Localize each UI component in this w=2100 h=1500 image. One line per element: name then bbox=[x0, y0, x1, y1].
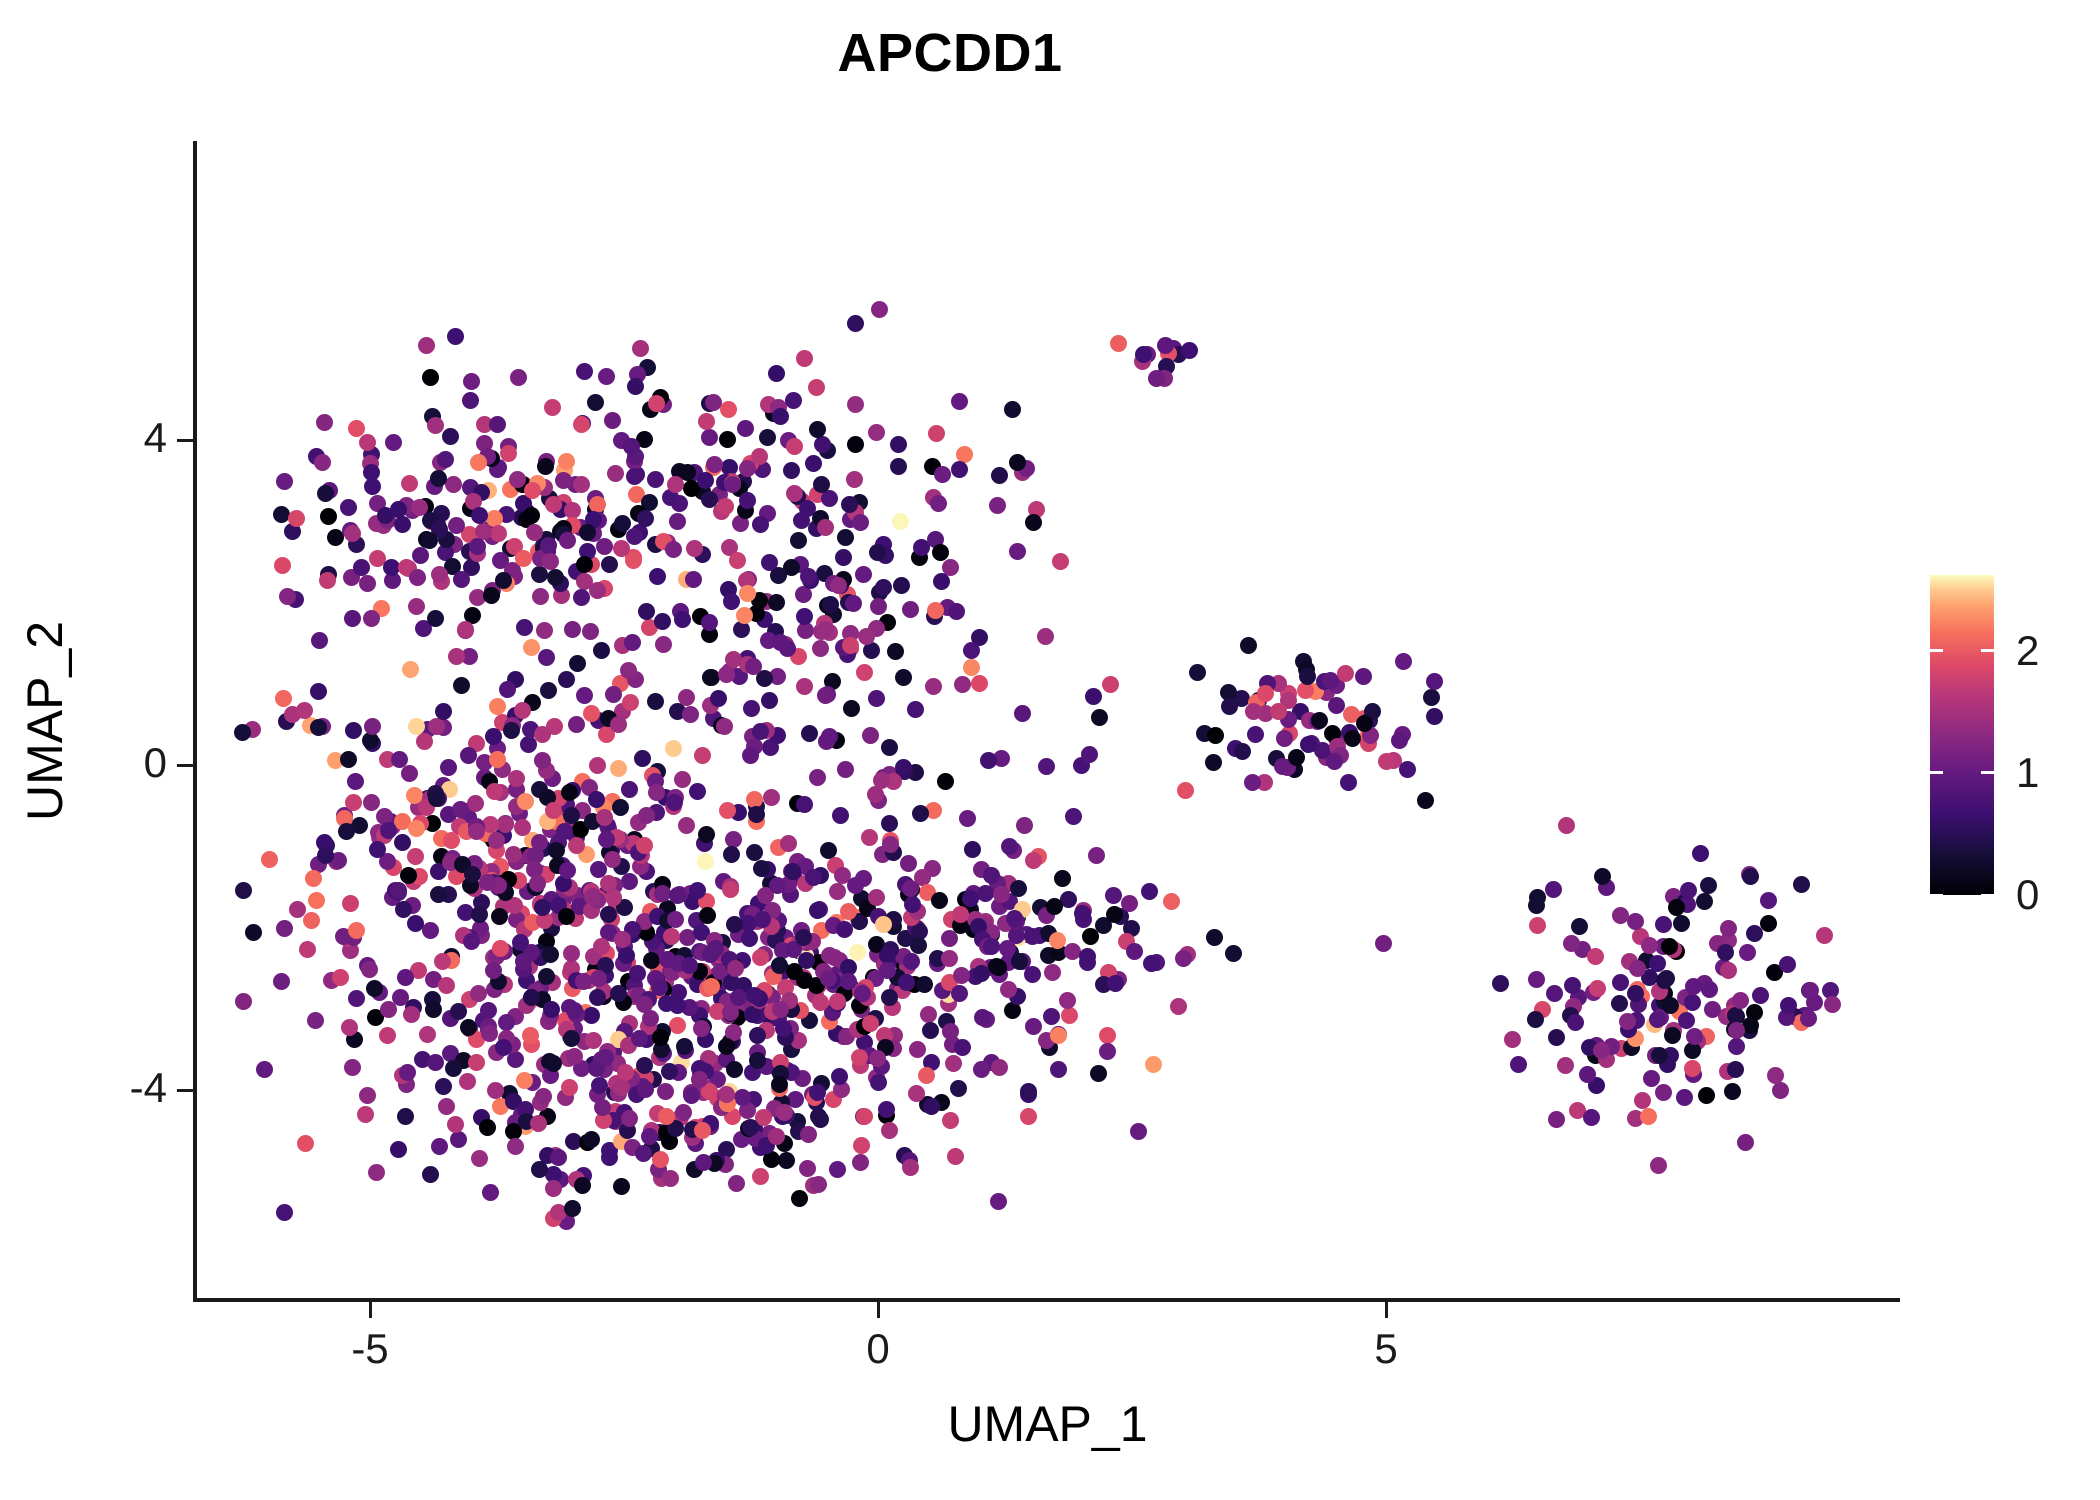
scatter-point bbox=[363, 610, 380, 627]
scatter-point bbox=[698, 413, 715, 430]
scatter-point bbox=[523, 639, 540, 656]
scatter-point bbox=[964, 841, 981, 858]
scatter-point bbox=[701, 429, 718, 446]
scatter-point bbox=[831, 1068, 848, 1085]
scatter-point bbox=[1529, 917, 1546, 934]
scatter-point bbox=[932, 544, 949, 561]
scatter-point bbox=[667, 911, 684, 928]
scatter-point bbox=[1426, 708, 1443, 725]
scatter-point bbox=[468, 1054, 485, 1071]
scatter-point bbox=[397, 969, 414, 986]
scatter-point bbox=[809, 769, 826, 786]
scatter-point bbox=[817, 687, 834, 704]
scatter-point bbox=[314, 454, 331, 471]
scatter-point bbox=[786, 485, 803, 502]
scatter-point bbox=[273, 973, 290, 990]
scatter-point bbox=[665, 740, 682, 757]
scatter-point bbox=[669, 513, 686, 530]
y-axis-label: UMAP_2 bbox=[0, 141, 90, 1300]
scatter-point bbox=[1081, 746, 1098, 763]
scatter-point bbox=[746, 844, 763, 861]
scatter-point bbox=[1684, 1042, 1701, 1059]
scatter-point bbox=[752, 516, 769, 533]
scatter-point bbox=[948, 603, 965, 620]
scatter-point bbox=[991, 467, 1008, 484]
scatter-point bbox=[973, 1061, 990, 1078]
scatter-point bbox=[1752, 987, 1769, 1004]
scatter-point bbox=[1528, 971, 1545, 988]
scatter-point bbox=[462, 392, 479, 409]
scatter-point bbox=[435, 1078, 452, 1095]
scatter-point bbox=[625, 552, 642, 569]
scatter-point bbox=[364, 718, 381, 735]
scatter-point bbox=[347, 773, 364, 790]
scatter-point bbox=[394, 516, 411, 533]
scatter-point bbox=[256, 1061, 273, 1078]
scatter-point bbox=[1163, 893, 1180, 910]
scatter-point bbox=[636, 996, 653, 1013]
scatter-point bbox=[1558, 817, 1575, 834]
scatter-point bbox=[835, 549, 852, 566]
scatter-point bbox=[514, 702, 531, 719]
scatter-point bbox=[1504, 1031, 1521, 1048]
scatter-point bbox=[587, 394, 604, 411]
scatter-point bbox=[621, 873, 638, 890]
scatter-point bbox=[631, 1030, 648, 1047]
scatter-point bbox=[775, 1020, 792, 1037]
scatter-point bbox=[613, 1178, 630, 1195]
scatter-point bbox=[453, 571, 470, 588]
scatter-point bbox=[861, 829, 878, 846]
scatter-point bbox=[460, 747, 477, 764]
scatter-point bbox=[870, 1074, 887, 1091]
scatter-point bbox=[817, 621, 834, 638]
scatter-point bbox=[898, 974, 915, 991]
scatter-point bbox=[809, 902, 826, 919]
scatter-point bbox=[662, 1170, 679, 1187]
scatter-point bbox=[652, 1151, 669, 1168]
scatter-point bbox=[532, 588, 549, 605]
scatter-point bbox=[793, 512, 810, 529]
scatter-point bbox=[409, 569, 426, 586]
scatter-point bbox=[858, 628, 875, 645]
scatter-point bbox=[903, 953, 920, 970]
scatter-point bbox=[812, 994, 829, 1011]
scatter-point bbox=[583, 1007, 600, 1024]
scatter-point bbox=[636, 837, 653, 854]
scatter-point bbox=[363, 464, 380, 481]
scatter-point bbox=[391, 751, 408, 768]
scatter-point bbox=[445, 1060, 462, 1077]
scatter-point bbox=[963, 642, 980, 659]
scatter-point bbox=[399, 1064, 416, 1081]
scatter-point bbox=[261, 851, 278, 868]
scatter-point bbox=[579, 524, 596, 541]
scatter-point bbox=[305, 870, 322, 887]
scatter-point bbox=[1355, 668, 1372, 685]
scatter-point bbox=[604, 412, 621, 429]
scatter-point bbox=[674, 771, 691, 788]
scatter-point bbox=[930, 495, 947, 512]
scatter-point bbox=[669, 887, 686, 904]
scatter-point bbox=[829, 883, 846, 900]
scatter-point bbox=[734, 1089, 751, 1106]
scatter-point bbox=[348, 990, 365, 1007]
scatter-point bbox=[273, 506, 290, 523]
scatter-point bbox=[718, 1038, 735, 1055]
scatter-point bbox=[359, 575, 376, 592]
scatter-point bbox=[543, 1001, 560, 1018]
scatter-point bbox=[412, 547, 429, 564]
scatter-point bbox=[297, 1135, 314, 1152]
scatter-point bbox=[431, 566, 448, 583]
scatter-point bbox=[971, 675, 988, 692]
scatter-point bbox=[401, 765, 418, 782]
scatter-point bbox=[307, 1012, 324, 1029]
scatter-point bbox=[1145, 1056, 1162, 1073]
scatter-point bbox=[683, 1087, 700, 1104]
scatter-point bbox=[427, 610, 444, 627]
scatter-point bbox=[407, 848, 424, 865]
scatter-point bbox=[1090, 1065, 1107, 1082]
scatter-point bbox=[870, 598, 887, 615]
scatter-point bbox=[1696, 893, 1713, 910]
scatter-point bbox=[275, 690, 292, 707]
scatter-point bbox=[623, 438, 640, 455]
scatter-point bbox=[524, 482, 541, 499]
scatter-point bbox=[881, 1122, 898, 1139]
scatter-point bbox=[647, 693, 664, 710]
colorbar-tick-mark bbox=[1981, 894, 1994, 897]
scatter-point bbox=[697, 853, 714, 870]
scatter-point bbox=[1395, 653, 1412, 670]
scatter-point bbox=[514, 819, 531, 836]
scatter-point bbox=[601, 556, 618, 573]
scatter-point bbox=[725, 651, 742, 668]
scatter-point bbox=[508, 770, 525, 787]
scatter-point bbox=[1274, 758, 1291, 775]
scatter-point bbox=[733, 621, 750, 638]
scatter-point bbox=[796, 608, 813, 625]
scatter-point bbox=[1044, 964, 1061, 981]
scatter-point bbox=[895, 669, 912, 686]
scatter-point bbox=[638, 603, 655, 620]
umap-feature-plot: APCDD1 -404 -505 UMAP_2 UMAP_1 012 bbox=[0, 0, 2100, 1500]
x-tick-label: -5 bbox=[351, 1325, 388, 1373]
colorbar-legend: 012 bbox=[1930, 575, 2080, 905]
scatter-point bbox=[1009, 543, 1026, 560]
scatter-point bbox=[737, 420, 754, 437]
scatter-point bbox=[1009, 454, 1026, 471]
scatter-point bbox=[643, 952, 660, 969]
scatter-point bbox=[856, 664, 873, 681]
scatter-point bbox=[1207, 727, 1224, 744]
scatter-point bbox=[723, 593, 740, 610]
x-tick-mark bbox=[877, 1302, 880, 1318]
scatter-point bbox=[626, 468, 643, 485]
scatter-point bbox=[453, 677, 470, 694]
scatter-point bbox=[583, 705, 600, 722]
scatter-point bbox=[1655, 1084, 1672, 1101]
scatter-point bbox=[1082, 928, 1099, 945]
scatter-point bbox=[447, 1116, 464, 1133]
colorbar-tick-mark bbox=[1981, 649, 1994, 652]
scatter-point bbox=[810, 1176, 827, 1193]
scatter-point bbox=[471, 906, 488, 923]
scatter-point bbox=[443, 832, 460, 849]
scatter-point bbox=[868, 690, 885, 707]
scatter-point bbox=[626, 528, 643, 545]
scatter-point bbox=[495, 1039, 512, 1056]
scatter-point bbox=[652, 1029, 669, 1046]
scatter-point bbox=[716, 718, 733, 735]
scatter-point bbox=[890, 436, 907, 453]
x-tick-label: 5 bbox=[1374, 1325, 1397, 1373]
scatter-point bbox=[1189, 664, 1206, 681]
scatter-point bbox=[942, 1112, 959, 1129]
scatter-point bbox=[276, 920, 293, 937]
colorbar-tick-mark bbox=[1930, 894, 1943, 897]
scatter-point bbox=[550, 1149, 567, 1166]
scatter-point bbox=[344, 525, 361, 542]
scatter-point bbox=[422, 1166, 439, 1183]
scatter-point bbox=[507, 1138, 524, 1155]
scatter-point bbox=[345, 722, 362, 739]
y-axis-line bbox=[193, 141, 197, 1302]
scatter-point bbox=[846, 471, 863, 488]
scatter-point bbox=[522, 1027, 539, 1044]
scatter-point bbox=[1065, 808, 1082, 825]
scatter-point bbox=[1737, 1134, 1754, 1151]
scatter-point bbox=[951, 461, 968, 478]
scatter-point bbox=[637, 1081, 654, 1098]
scatter-point bbox=[941, 950, 958, 967]
scatter-point bbox=[296, 702, 313, 719]
scatter-point bbox=[440, 759, 457, 776]
scatter-point bbox=[1717, 944, 1734, 961]
scatter-point bbox=[862, 1015, 879, 1032]
scatter-point bbox=[499, 681, 516, 698]
scatter-point bbox=[614, 931, 631, 948]
scatter-point bbox=[564, 621, 581, 638]
colorbar-tick-label: 1 bbox=[2016, 749, 2039, 797]
scatter-point bbox=[1050, 1027, 1067, 1044]
scatter-point bbox=[534, 726, 551, 743]
scatter-point bbox=[618, 947, 635, 964]
scatter-point bbox=[563, 945, 580, 962]
scatter-point bbox=[933, 573, 950, 590]
scatter-point bbox=[963, 659, 980, 676]
scatter-point bbox=[1311, 712, 1328, 729]
scatter-point bbox=[1107, 975, 1124, 992]
scatter-point bbox=[359, 1087, 376, 1104]
scatter-point bbox=[450, 1003, 467, 1020]
scatter-point bbox=[1423, 689, 1440, 706]
scatter-point bbox=[1528, 897, 1545, 914]
scatter-point bbox=[1038, 758, 1055, 775]
scatter-point bbox=[821, 728, 838, 745]
scatter-point bbox=[763, 789, 780, 806]
scatter-point bbox=[851, 1049, 868, 1066]
scatter-point bbox=[448, 648, 465, 665]
scatter-point bbox=[852, 514, 869, 531]
scatter-point bbox=[647, 471, 664, 488]
scatter-point bbox=[627, 378, 644, 395]
scatter-point bbox=[416, 733, 433, 750]
scatter-point bbox=[1587, 948, 1604, 965]
scatter-point bbox=[563, 1030, 580, 1047]
scatter-point bbox=[558, 908, 575, 925]
x-tick-label: 0 bbox=[866, 1325, 889, 1373]
x-tick-mark bbox=[1385, 1302, 1388, 1318]
scatter-point bbox=[470, 454, 487, 471]
scatter-point bbox=[235, 993, 252, 1010]
scatter-point bbox=[438, 977, 455, 994]
scatter-point bbox=[341, 1019, 358, 1036]
scatter-point bbox=[1700, 877, 1717, 894]
scatter-point bbox=[531, 1161, 548, 1178]
scatter-point bbox=[338, 823, 355, 840]
scatter-point bbox=[1611, 995, 1628, 1012]
scatter-point bbox=[909, 1041, 926, 1058]
scatter-point bbox=[622, 694, 639, 711]
scatter-point bbox=[566, 1002, 583, 1019]
scatter-point bbox=[517, 793, 534, 810]
y-tick-label: -4 bbox=[95, 1064, 167, 1112]
scatter-point bbox=[977, 885, 994, 902]
scatter-point bbox=[428, 718, 445, 735]
scatter-point bbox=[665, 541, 682, 558]
scatter-point bbox=[1177, 782, 1194, 799]
scatter-point bbox=[907, 701, 924, 718]
scatter-point bbox=[401, 475, 418, 492]
scatter-point bbox=[463, 373, 480, 390]
scatter-point bbox=[719, 431, 736, 448]
scatter-point bbox=[1240, 637, 1257, 654]
scatter-point bbox=[601, 1149, 618, 1166]
scatter-point bbox=[435, 703, 452, 720]
scatter-point bbox=[545, 1180, 562, 1197]
scatter-point bbox=[902, 880, 919, 897]
scatter-point bbox=[427, 417, 444, 434]
scatter-point bbox=[1059, 992, 1076, 1009]
scatter-point bbox=[727, 960, 744, 977]
scatter-point bbox=[403, 1006, 420, 1023]
scatter-point bbox=[279, 588, 296, 605]
scatter-point bbox=[1676, 1089, 1693, 1106]
scatter-point bbox=[1340, 774, 1357, 791]
scatter-point bbox=[699, 907, 716, 924]
colorbar-tick-label: 2 bbox=[2016, 627, 2039, 675]
scatter-point bbox=[790, 532, 807, 549]
scatter-point bbox=[706, 456, 723, 473]
scatter-point bbox=[431, 1138, 448, 1155]
scatter-point bbox=[509, 471, 526, 488]
scatter-point bbox=[588, 791, 605, 808]
scatter-point bbox=[718, 1086, 735, 1103]
y-tick-label: 4 bbox=[95, 414, 167, 462]
scatter-point bbox=[460, 1019, 477, 1036]
scatter-point bbox=[1684, 1060, 1701, 1077]
scatter-point bbox=[607, 465, 624, 482]
scatter-point bbox=[1091, 709, 1108, 726]
scatter-point bbox=[685, 571, 702, 588]
scatter-point bbox=[855, 566, 872, 583]
y-tick-mark bbox=[177, 439, 193, 442]
scatter-point bbox=[1244, 774, 1261, 791]
scatter-point bbox=[922, 1022, 939, 1039]
scatter-point bbox=[1698, 1087, 1715, 1104]
scatter-point bbox=[538, 649, 555, 666]
scatter-point bbox=[500, 445, 517, 462]
scatter-point bbox=[1088, 847, 1105, 864]
scatter-point bbox=[689, 783, 706, 800]
scatter-point bbox=[1054, 870, 1071, 887]
scatter-point bbox=[812, 1111, 829, 1128]
scatter-point bbox=[558, 453, 575, 470]
scatter-point bbox=[542, 553, 559, 570]
scatter-point bbox=[490, 525, 507, 542]
scatter-point bbox=[523, 507, 540, 524]
scatter-point bbox=[837, 529, 854, 546]
scatter-point bbox=[847, 315, 864, 332]
scatter-point bbox=[536, 622, 553, 639]
scatter-point bbox=[1641, 937, 1658, 954]
colorbar-tick-mark bbox=[1981, 771, 1994, 774]
scatter-point bbox=[795, 929, 812, 946]
scatter-point bbox=[383, 559, 400, 576]
scatter-point bbox=[697, 472, 714, 489]
scatter-point bbox=[1658, 970, 1675, 987]
scatter-point bbox=[666, 794, 683, 811]
scatter-point bbox=[736, 607, 753, 624]
scatter-point bbox=[288, 510, 305, 527]
scatter-point bbox=[1025, 514, 1042, 531]
scatter-point bbox=[1206, 929, 1223, 946]
scatter-point bbox=[583, 1131, 600, 1148]
scatter-point bbox=[1742, 868, 1759, 885]
scatter-point bbox=[1546, 985, 1563, 1002]
scatter-point bbox=[1141, 883, 1158, 900]
scatter-point bbox=[542, 946, 559, 963]
scatter-point bbox=[596, 538, 613, 555]
scatter-point bbox=[470, 985, 487, 1002]
scatter-point bbox=[585, 1032, 602, 1049]
scatter-point bbox=[629, 965, 646, 982]
scatter-point bbox=[234, 724, 251, 741]
scatter-point bbox=[973, 965, 990, 982]
scatter-point bbox=[363, 794, 380, 811]
scatter-point bbox=[463, 933, 480, 950]
scatter-point bbox=[852, 1154, 869, 1171]
scatter-point bbox=[397, 1108, 414, 1125]
scatter-point bbox=[545, 1055, 562, 1072]
scatter-point bbox=[887, 643, 904, 660]
scatter-point bbox=[361, 961, 378, 978]
scatter-point bbox=[569, 655, 586, 672]
scatter-point bbox=[1020, 1108, 1037, 1125]
scatter-point bbox=[772, 634, 789, 651]
scatter-point bbox=[871, 301, 888, 318]
scatter-point bbox=[694, 1122, 711, 1139]
scatter-point bbox=[663, 928, 680, 945]
scatter-point bbox=[1732, 992, 1749, 1009]
scatter-point bbox=[593, 642, 610, 659]
scatter-point bbox=[1257, 685, 1274, 702]
scatter-point bbox=[1234, 743, 1251, 760]
scatter-point bbox=[1299, 668, 1316, 685]
scatter-point bbox=[498, 1014, 515, 1031]
